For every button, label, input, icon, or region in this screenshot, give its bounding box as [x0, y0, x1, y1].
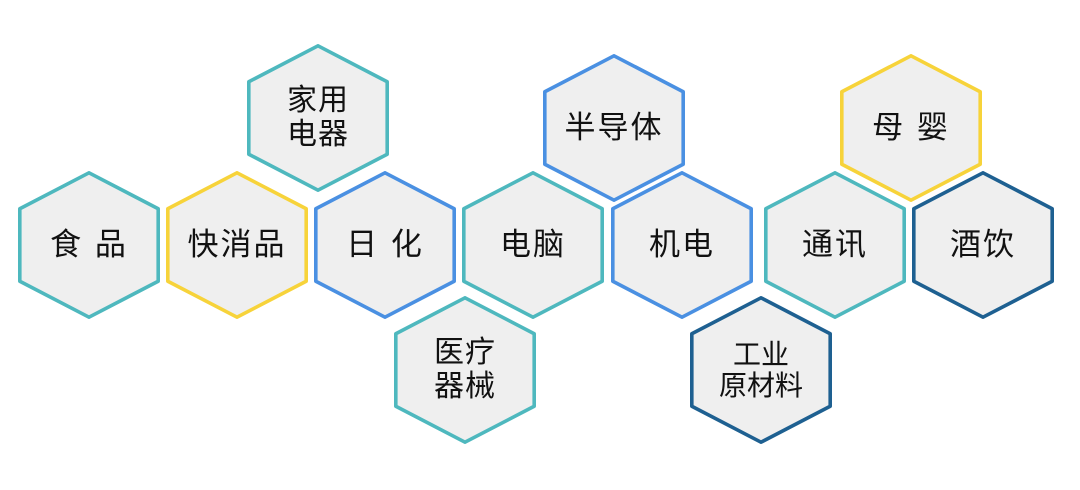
hex-label-food: 食 品 — [50, 228, 128, 263]
hex-label-semiconductor: 半导体 — [565, 111, 664, 146]
hex-label-telecom: 通讯 — [802, 228, 868, 263]
hex-label-medical-devices: 医疗 器械 — [434, 336, 496, 403]
hex-label-home-appliances: 家用 电器 — [287, 84, 349, 151]
hex-label-fmcg: 快消品 — [188, 228, 287, 263]
hex-node-food[interactable]: 食 品 — [18, 171, 160, 319]
hex-label-alcohol-beverage: 酒饮 — [950, 228, 1016, 263]
hex-node-medical-devices[interactable]: 医疗 器械 — [394, 296, 536, 444]
hex-label-daily-chemicals: 日 化 — [346, 228, 424, 263]
hex-node-fmcg[interactable]: 快消品 — [166, 171, 308, 319]
hex-node-maternal-baby[interactable]: 母 婴 — [840, 54, 982, 202]
hex-label-maternal-baby: 母 婴 — [872, 111, 950, 146]
hexagon-diagram-canvas: 食 品快消品日 化电脑机电通讯酒饮家用 电器半导体母 婴医疗 器械工业 原材料 — [0, 0, 1080, 490]
hex-node-industrial-raw-materials[interactable]: 工业 原材料 — [690, 296, 832, 444]
hex-label-industrial-raw-materials: 工业 原材料 — [719, 339, 803, 402]
hex-label-electromechanical: 机电 — [649, 228, 715, 263]
hex-node-semiconductor[interactable]: 半导体 — [543, 54, 685, 202]
hex-label-computer: 电脑 — [500, 228, 566, 263]
hex-node-home-appliances[interactable]: 家用 电器 — [247, 44, 389, 192]
